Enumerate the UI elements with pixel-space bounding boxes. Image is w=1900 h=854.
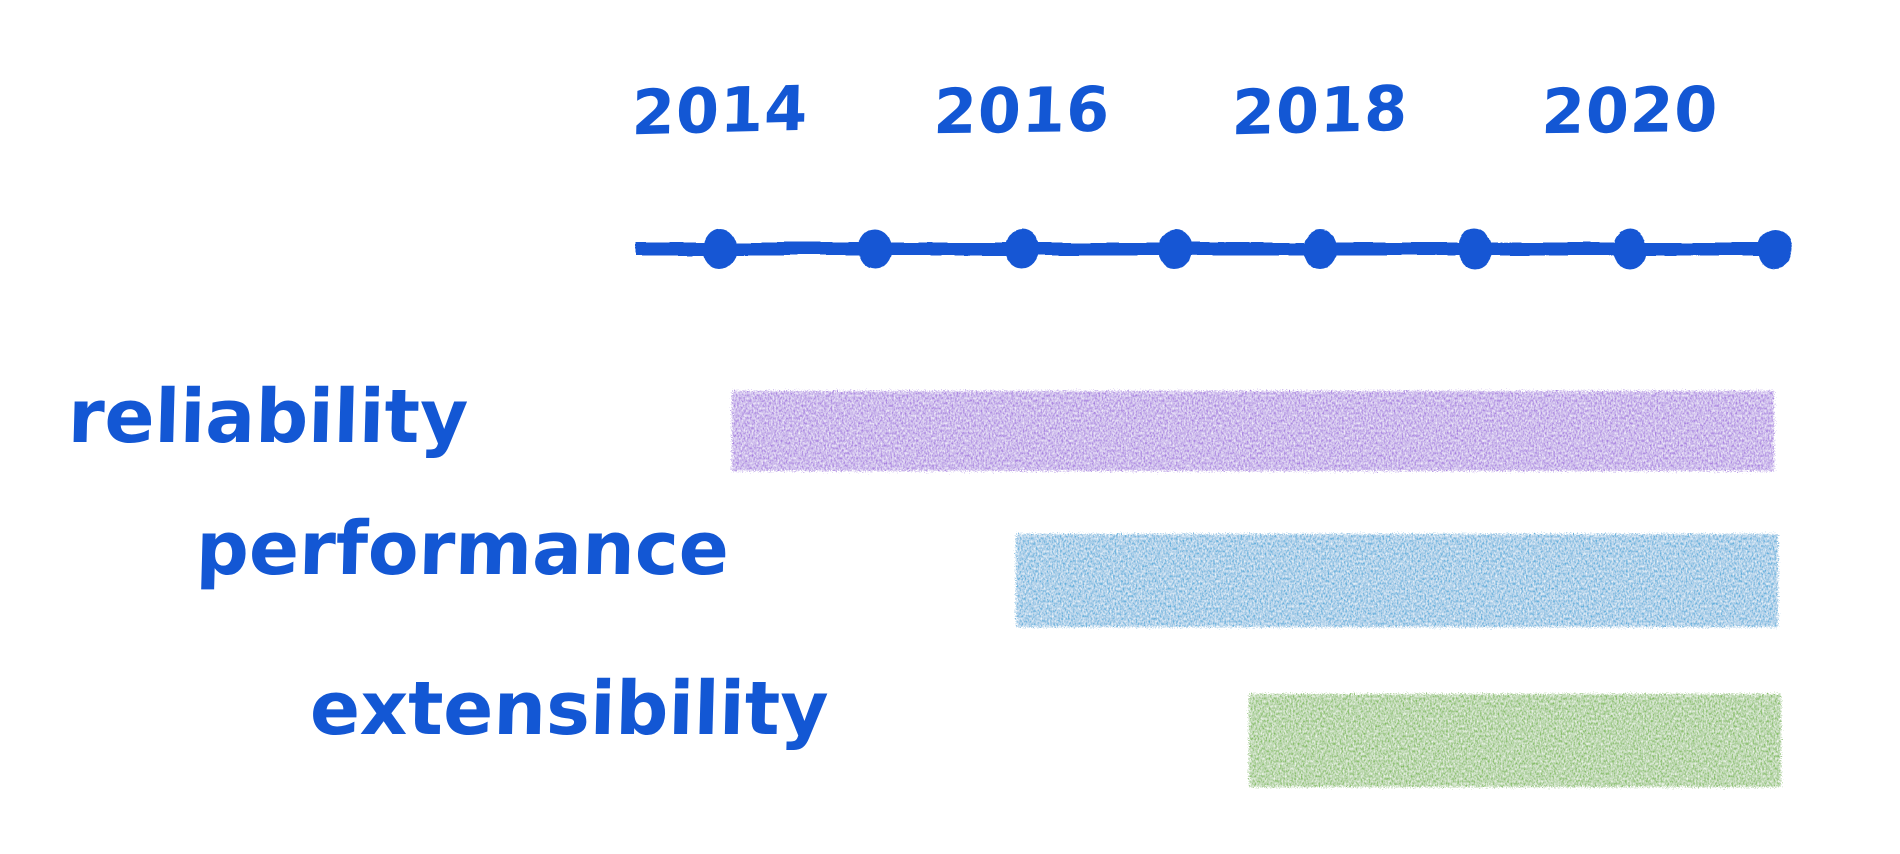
category-label-reliability: reliability	[67, 380, 469, 454]
timeline-year-label: 2018	[1231, 78, 1409, 145]
bar-texture-extensibility	[1245, 688, 1785, 793]
timeline: 2014201620182020	[0, 0, 1900, 300]
timeline-dot[interactable]	[703, 229, 737, 269]
timeline-dot[interactable]	[1458, 229, 1492, 269]
timeline-bar-performance[interactable]	[1012, 528, 1782, 633]
timeline-axis-svg	[0, 0, 1900, 300]
timeline-year-label: 2016	[933, 79, 1112, 144]
timeline-bar-extensibility[interactable]	[1245, 688, 1785, 793]
bar-texture-performance	[1012, 528, 1782, 633]
bar-texture-reliability	[728, 385, 1778, 477]
category-label-extensibility: extensibility	[309, 672, 829, 746]
timeline-dot[interactable]	[1158, 229, 1192, 269]
timeline-bar-reliability[interactable]	[728, 385, 1778, 477]
timeline-dot[interactable]	[1303, 229, 1337, 269]
timeline-year-label: 2014	[631, 78, 809, 145]
timeline-dot[interactable]	[1758, 229, 1792, 269]
timeline-dot[interactable]	[1005, 229, 1039, 269]
diagram-canvas: 2014201620182020 reliabilityperformancee…	[0, 0, 1900, 854]
category-label-performance: performance	[195, 512, 730, 586]
timeline-dot[interactable]	[858, 229, 892, 269]
timeline-year-label: 2020	[1541, 79, 1720, 144]
timeline-dot[interactable]	[1613, 229, 1647, 269]
